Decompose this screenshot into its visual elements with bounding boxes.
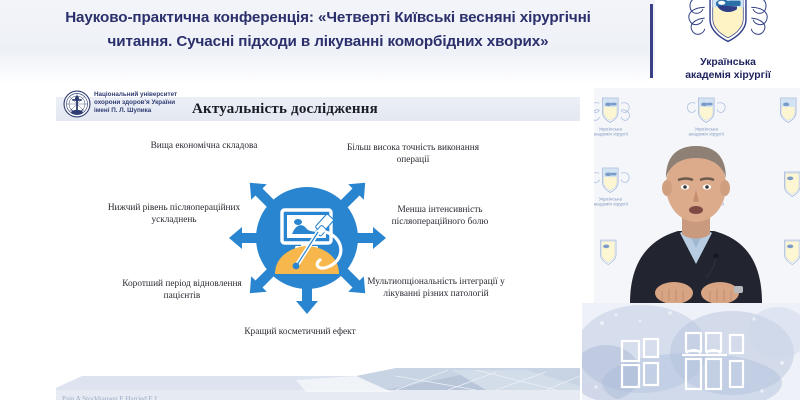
speaker-video-panel[interactable]: Українська академія хірургії Укра — [582, 88, 800, 400]
slide-bottom-decor: Pain A Stockhausen E Harried F J — [56, 366, 580, 400]
conference-title-line-1: Науково-практична конференція: «Четверті… — [8, 6, 648, 30]
benefit-label-recovery: Коротший період відновлення пацієнтів — [106, 278, 258, 303]
slide-title: Актуальність дослідження — [192, 96, 492, 122]
university-name-line-1: Національний університет — [94, 91, 190, 99]
presentation-screen: Науково-практична конференція: «Четверті… — [0, 0, 800, 400]
academy-brand-name-line-2: академія хірургії — [656, 69, 800, 82]
slide-footer-text: Pain A Stockhausen E Harried F J — [62, 395, 576, 400]
university-name-line-3: імені П. Л. Шупика — [94, 107, 190, 115]
benefit-label-economic: Вища економічна складова — [138, 140, 270, 152]
ukrainian-academy-of-surgery-emblem — [674, 0, 782, 54]
conference-header: Науково-практична конференція: «Четверті… — [0, 0, 655, 84]
conference-title: Науково-практична конференція: «Четверті… — [8, 6, 648, 54]
benefit-label-multioption: Мультиопціональність інтеграції у лікува… — [354, 276, 518, 301]
academy-brand-name-line-1: Українська — [656, 56, 800, 69]
benefit-label-complications: Нижчий рівень післяопераційних ускладнен… — [98, 202, 250, 227]
academy-brand-name: Українська академія хірургії — [656, 56, 800, 82]
building-watercolor-decor — [582, 303, 800, 400]
presentation-slide: Національний університет охорони здоров'… — [56, 88, 580, 400]
benefit-label-pain: Менша інтенсивність післяопераційного бо… — [364, 204, 516, 229]
building-watercolor-svg — [582, 303, 800, 400]
speaker-video-feed[interactable]: Українська академія хірургії Укра — [582, 88, 800, 303]
shupyk-university-seal-icon — [63, 90, 91, 118]
benefit-label-precision: Більш висока точність виконання операції — [338, 142, 488, 167]
speaker-figure — [582, 88, 800, 303]
university-name: Національний університет охорони здоров'… — [94, 91, 190, 116]
benefit-label-cosmetic: Кращий косметичний ефект — [224, 326, 376, 338]
video-left-margin — [582, 88, 594, 303]
academy-brand-block: Українська академія хірургії — [656, 0, 800, 88]
header-divider — [650, 4, 653, 78]
conference-title-line-2: читання. Сучасні підходи в лікуванні ком… — [8, 30, 648, 54]
